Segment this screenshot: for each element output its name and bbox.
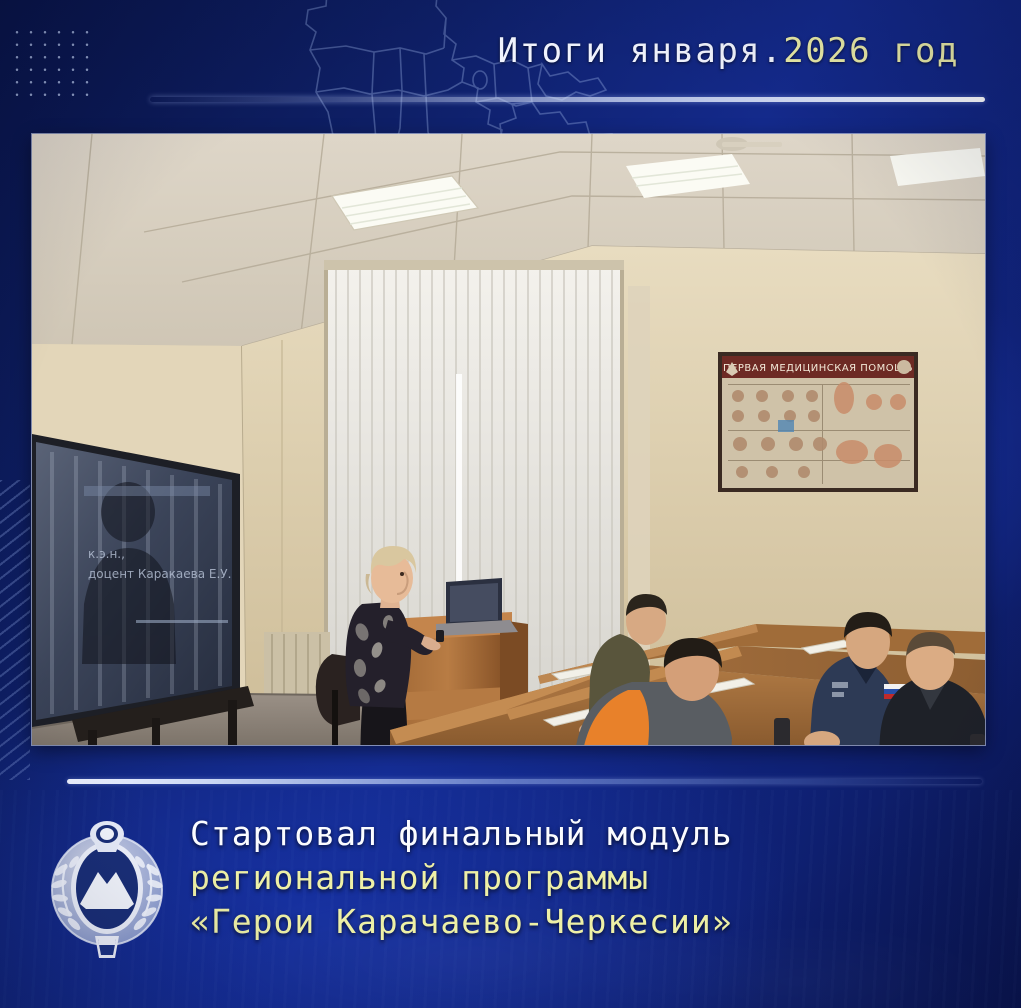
vignette-overlay [0, 0, 1021, 1008]
slide-canvas: Итоги января.2026 год [0, 0, 1021, 1008]
